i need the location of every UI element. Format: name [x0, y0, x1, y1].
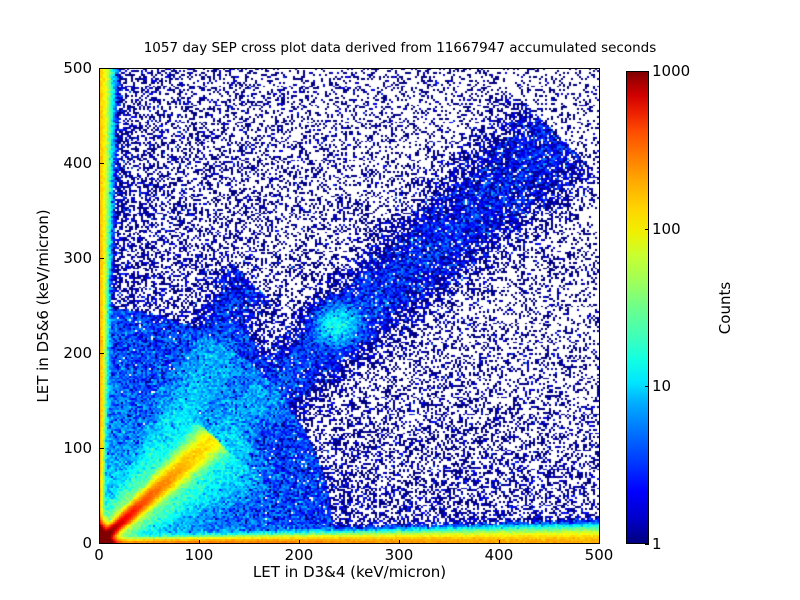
- figure-canvas: 1057 day SEP cross plot data derived fro…: [0, 0, 800, 600]
- colorbar-tick-1: [645, 544, 649, 545]
- colorbar-tick-100: [645, 229, 649, 230]
- colorbar-ticklabel-100: 100: [652, 220, 681, 238]
- colorbar-ticklabel-1000: 1000: [652, 62, 690, 80]
- plot-title-line-1: 1057 day SEP cross plot data derived fro…: [0, 40, 800, 57]
- y-ticklabel-400: 400: [52, 154, 92, 172]
- colorbar-label: Counts: [716, 282, 734, 334]
- y-tick-400: [100, 163, 104, 164]
- x-ticklabel-200: 200: [285, 546, 314, 564]
- x-tick-200: [299, 540, 300, 544]
- colorbar-ticklabel-1: 1: [652, 535, 662, 553]
- y-tick-200: [100, 353, 104, 354]
- x-tick-400: [499, 540, 500, 544]
- y-tick-300: [100, 258, 104, 259]
- y-axis-label: LET in D5&6 (keV/micron): [34, 209, 52, 402]
- x-axis-label: LET in D3&4 (keV/micron): [99, 563, 600, 581]
- y-tick-500: [100, 68, 104, 69]
- y-ticklabel-300: 300: [52, 249, 92, 267]
- x-ticklabel-400: 400: [485, 546, 514, 564]
- x-tick-300: [399, 540, 400, 544]
- x-ticklabel-100: 100: [185, 546, 214, 564]
- density-scatter-layer: [100, 69, 599, 543]
- x-ticklabel-500: 500: [585, 546, 614, 564]
- x-ticklabel-300: 300: [385, 546, 414, 564]
- y-ticklabel-200: 200: [52, 344, 92, 362]
- y-ticklabel-100: 100: [52, 439, 92, 457]
- y-ticklabel-0: 0: [52, 534, 92, 552]
- y-tick-0: [100, 543, 104, 544]
- colorbar-ticklabel-10: 10: [652, 377, 671, 395]
- colorbar-tick-10: [645, 386, 649, 387]
- y-tick-100: [100, 448, 104, 449]
- plot-area: [99, 68, 600, 544]
- colorbar-tick-1000: [645, 71, 649, 72]
- x-tick-100: [199, 540, 200, 544]
- x-ticklabel-0: 0: [94, 546, 104, 564]
- y-ticklabel-500: 500: [52, 59, 92, 77]
- colorbar: [626, 71, 649, 544]
- x-tick-500: [599, 540, 600, 544]
